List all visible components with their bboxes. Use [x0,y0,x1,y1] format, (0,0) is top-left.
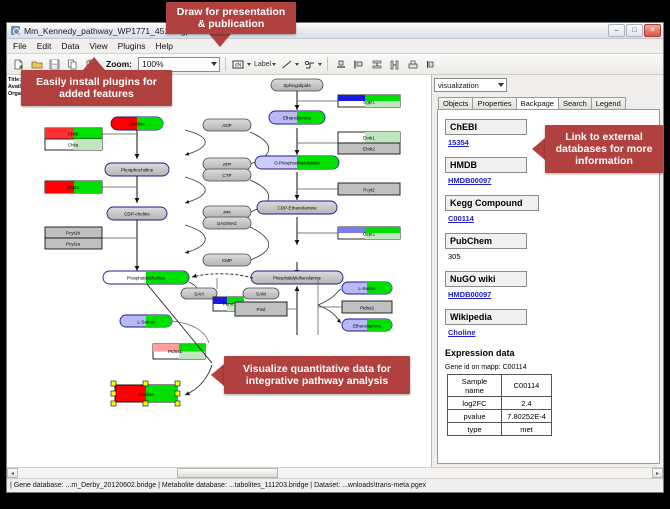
node-ctp-real: CTP [203,169,251,181]
toolbar-separator [225,57,226,71]
svg-text:CDP-Ethanolamine: CDP-Ethanolamine [277,206,317,211]
tab-legend[interactable]: Legend [591,97,626,109]
svg-text:L-Serine: L-Serine [137,320,155,325]
svg-text:Chpt1: Chpt1 [67,185,80,190]
zoom-value: 100% [142,59,164,69]
svg-text:Choline: Choline [138,392,154,397]
db-link-kegg-compound[interactable]: C00114 [448,214,474,223]
menu-view[interactable]: View [88,41,108,51]
menu-file[interactable]: File [12,41,28,51]
tab-search[interactable]: Search [558,97,592,109]
menu-plugins[interactable]: Plugins [117,41,147,51]
canvas-hscrollbar[interactable]: ◂ ▸ [7,467,663,478]
svg-text:CMP: CMP [222,258,232,263]
node-sgpl1: Sgpl1 [338,95,400,107]
row-value: C00114 [502,375,552,397]
svg-text:Choline: Choline [129,122,145,127]
svg-text:Ethanolamine: Ethanolamine [283,116,312,121]
svg-text:Cept1: Cept1 [363,232,376,237]
svg-text:CDP-choline: CDP-choline [124,212,150,217]
node-etnk1: Etnk1 [338,132,400,143]
menu-edit[interactable]: Edit [36,41,53,51]
chevron-down-icon [498,83,504,87]
stack-icon[interactable] [405,57,420,72]
chevron-down-icon [295,63,299,66]
callout-draw-arrow [209,34,231,47]
table-row: log2FC 2.4 [448,397,552,410]
minimize-button[interactable]: – [608,24,625,37]
db-header-hmdb: HMDB [445,157,527,173]
callout-plugins: Easily install plugins for added feature… [21,70,172,106]
svg-text:Phosphatidylethanolamine: Phosphatidylethanolamine [273,276,322,281]
scroll-right-icon[interactable]: ▸ [652,468,663,478]
scroll-left-icon[interactable]: ◂ [7,468,18,478]
node-choline-selected: Choline [111,381,180,406]
receptor-icon[interactable] [302,57,317,72]
visualization-value: visualization [438,81,479,90]
chevron-down-icon [272,63,276,66]
toolbar-separator [327,57,328,71]
align-top-icon[interactable] [333,57,348,72]
maximize-button[interactable]: □ [626,24,643,37]
node-ptdss1: Ptdss1 [153,344,205,359]
svg-text:Sgpl1: Sgpl1 [363,100,375,105]
node-phosphocholine: Phosphocholine [105,163,169,176]
svg-text:dN: dN [235,62,242,68]
zoom-label: Zoom: [106,59,132,69]
svg-text:Phosphatidylcholines: Phosphatidylcholines [127,276,165,281]
label-tool-text: Label [254,61,271,68]
node-pcyt2: Pcyt2 [338,183,400,195]
svg-text:SAH: SAH [194,292,203,297]
node-l-serine-left: L-Serine [120,315,172,327]
statusbar-text: | Gene database: ...m_Derby_20120602.bri… [10,482,426,489]
db-value-pubchem: 305 [448,252,461,261]
node-chpt1: Chpt1 [45,181,102,193]
svg-text:Etnk1: Etnk1 [363,136,375,141]
db-header-nugo-wiki: NuGO wiki [445,271,527,287]
tab-properties[interactable]: Properties [472,97,516,109]
svg-text:Pemt: Pemt [223,302,234,307]
line-icon[interactable] [279,57,294,72]
db-header-chebi: ChEBI [445,119,527,135]
table-row: pvalue 7.80252E-4 [448,410,552,423]
svg-text:Ptdss1: Ptdss1 [168,349,182,354]
svg-text:SAM: SAM [256,292,266,297]
svg-text:Pcyt1a: Pcyt1a [66,242,80,247]
callout-links: Link to external databases for more info… [545,125,663,173]
svg-text:O-Phosphoethanolamine: O-Phosphoethanolamine [274,161,320,166]
svg-text:Phosphocholine: Phosphocholine [121,168,154,173]
db-header-kegg-compound: Kegg Compound [445,195,539,211]
db-link-nugo-wiki[interactable]: HMDB00097 [448,290,491,299]
tab-objects[interactable]: Objects [438,97,473,109]
app-icon [11,26,20,35]
svg-text:Ptdss2: Ptdss2 [360,306,374,311]
db-link-wikipedia[interactable]: Choline [448,328,476,337]
svg-text:Pcyt1b: Pcyt1b [66,231,80,236]
svg-text:Pisd: Pisd [257,307,266,312]
screenshot-root: Mm_Kennedy_pathway_WP1771_45176.gpml – □… [0,0,670,509]
table-row: type met [448,423,552,436]
node-phosphatidylethanolamine: Phosphatidylethanolamine [251,271,343,284]
label-dropdown[interactable]: Label [254,61,276,68]
svg-text:DAG/MAG: DAG/MAG [217,221,236,226]
node-sam: SAM [243,288,279,299]
node-ptdss2: Ptdss2 [342,301,392,313]
svg-text:L-Serine: L-Serine [358,286,376,291]
distribute-vertical-icon[interactable] [369,57,384,72]
line-dropdown[interactable] [279,57,299,72]
svg-text:Etnk2: Etnk2 [363,147,375,152]
row-value: 2.4 [502,397,552,410]
statusbar: | Gene database: ...m_Derby_20120602.bri… [7,478,663,492]
window-controls: – □ ✕ [608,24,661,37]
svg-text:CTP: CTP [222,173,231,178]
node-adp: ADP [203,119,251,131]
svg-text:Chka: Chka [68,143,79,148]
tab-backpage[interactable]: Backpage [516,97,559,109]
node-ethanolamine: Ethanolamine [269,111,325,124]
node-pcyt1b: Pcyt1b [45,227,102,238]
data-node-icon[interactable]: dN [231,57,246,72]
row-key: pvalue [448,410,502,423]
node-pisd: Pisd [235,302,287,316]
node-ethanolamine-bottom: Ethanolamine [342,319,392,331]
table-row: Sample name C00114 [448,375,552,397]
row-value: 7.80252E-4 [502,410,552,423]
row-key: Sample name [448,375,502,397]
node-cept1: Cept1 [338,227,400,239]
row-value: met [502,423,552,436]
node-chka: Chka [45,139,102,150]
svg-text:ATP: ATP [223,162,232,167]
distribute-horizontal-icon[interactable] [387,57,402,72]
data-node-dropdown[interactable]: dN [231,57,251,72]
visualization-combo[interactable]: visualization [434,78,507,92]
hscroll-thumb[interactable] [177,468,278,478]
node-cdp-ethanolamine: CDP-Ethanolamine [257,201,337,214]
node-l-serine-right: L-Serine [342,282,392,294]
node-etnk2: Etnk2 [338,143,400,154]
side-panel-tabs: Objects Properties Backpage Search Legen… [432,95,663,109]
node-sah: SAH [181,288,217,299]
chevron-down-icon [211,62,217,66]
chevron-down-icon [247,63,251,66]
expression-data-title: Expression data [445,348,652,358]
svg-text:ADP: ADP [222,123,231,128]
node-sphingolipids: Sphingolipids [271,79,323,91]
db-link-hmdb[interactable]: HMDB00097 [448,176,491,185]
node-choline-top: Choline [111,117,163,130]
svg-text:Ethanolamine: Ethanolamine [353,324,382,329]
node-cmp: CMP [203,254,251,266]
gene-id-line: Gene id on mapp: C00114 [445,364,652,371]
node-phosphatidylcholines: Phosphatidylcholines [103,271,189,284]
node-chkb: Chkb [45,128,102,139]
callout-links-arrow [532,138,545,160]
order-icon[interactable] [423,57,438,72]
node-ppi: PPi [203,206,251,218]
expression-table: Sample name C00114 log2FC 2.4 pvalue 7.8… [447,374,552,436]
svg-text:Pcyt2: Pcyt2 [363,188,375,193]
receptor-dropdown[interactable] [302,57,322,72]
db-header-pubchem: PubChem [445,233,527,249]
pathway-canvas[interactable]: Title: Availa Organi [7,75,432,467]
svg-text:PPi: PPi [223,210,230,215]
menubar: File Edit Data View Plugins Help [7,39,663,54]
chevron-down-icon [318,63,322,66]
close-button[interactable]: ✕ [644,24,661,37]
visualization-row: visualization [432,75,663,95]
pathway-diagram[interactable]: Sphingolipids Ethanolamine O-Phosphoetha… [7,75,432,467]
callout-draw: Draw for presentation & publication [166,2,296,34]
menu-help[interactable]: Help [155,41,174,51]
node-o-phosphoethanolamine: O-Phosphoethanolamine [255,156,339,169]
window-titlebar: Mm_Kennedy_pathway_WP1771_45176.gpml – □… [7,23,663,39]
hscroll-track[interactable] [18,468,652,478]
row-key: type [448,423,502,436]
callout-visualize-arrow [211,364,224,386]
node-cdp-choline: CDP-choline [107,207,167,220]
db-link-chebi[interactable]: 15354 [448,138,469,147]
svg-text:Chkb: Chkb [68,132,79,137]
node-dagmag: DAG/MAG [203,217,251,229]
db-header-wikipedia: Wikipedia [445,309,527,325]
row-key: log2FC [448,397,502,410]
node-pcyt1a: Pcyt1a [45,238,102,249]
callout-visualize: Visualize quantitative data for integrat… [224,356,410,394]
align-left-icon[interactable] [351,57,366,72]
menu-data[interactable]: Data [60,41,80,51]
svg-text:Sphingolipids: Sphingolipids [283,83,311,88]
